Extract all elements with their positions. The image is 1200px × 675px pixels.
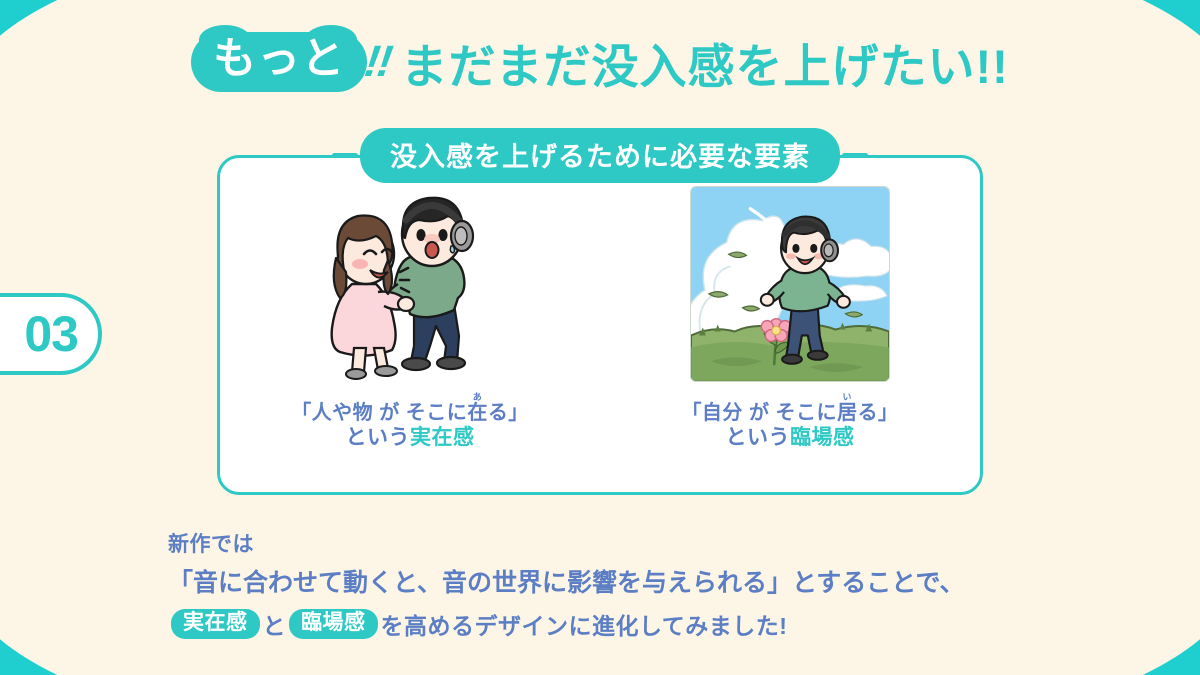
bottom-line-3: 実在感 と 臨場感 を高めるデザインに進化してみました! (168, 607, 1088, 641)
caption-immersion-ruby: 居い (837, 402, 858, 424)
title-blob-label: もっと (213, 35, 345, 83)
header-dash-left-icon (332, 153, 358, 158)
illustration-girl-touching-boy (296, 186, 524, 386)
caption-presence-ruby-text: あ (467, 392, 487, 402)
caption-immersion: 「自分 が そこに居いる」 という臨場感 (681, 392, 898, 451)
bottom-line3-conjunction: と (263, 607, 287, 641)
step-number-label: 03 (24, 309, 78, 359)
bottom-line3-tail: を高めるデザインに進化してみました! (381, 607, 788, 641)
section-header-label: 没入感を上げるために必要な要素 (390, 142, 810, 172)
caption-immersion-line2-highlight: 臨場感 (790, 426, 855, 449)
caption-immersion-line1: 「自分 が そこに居いる」 (681, 392, 898, 425)
caption-immersion-line1-pre: 「自分 が そこに (681, 402, 837, 424)
caption-immersion-ruby-text: い (837, 392, 857, 402)
section-header-pill: 没入感を上げるために必要な要素 (360, 128, 840, 183)
illustration-field-frame (690, 186, 890, 382)
title-exclamation: !! (362, 37, 394, 87)
title-emphasis-blob: もっと (191, 32, 367, 91)
caption-immersion-line2-plain: という (726, 426, 791, 449)
step-number-badge: 03 (0, 293, 102, 375)
caption-presence-line2: という実在感 (291, 425, 529, 451)
illustration-field-svg (691, 187, 889, 381)
caption-presence-line2-highlight: 実在感 (410, 426, 475, 449)
caption-immersion-line2: という臨場感 (681, 425, 898, 451)
content-panel: 「人や物 が そこに在ある」 という実在感 (217, 155, 983, 495)
section-header: 没入感を上げるために必要な要素 (0, 131, 1200, 179)
caption-presence-line2-plain: という (346, 426, 411, 449)
caption-presence-ruby: 在あ (467, 402, 488, 424)
bottom-pill-immersion: 臨場感 (289, 609, 378, 639)
panel-column-immersion: 「自分 が そこに居いる」 という臨場感 (600, 158, 980, 492)
bottom-line-2: 「音に合わせて動くと、音の世界に影響を与えられる」とすることで、 (168, 563, 1088, 599)
caption-immersion-line1-post: る」 (858, 402, 899, 424)
caption-presence-line1-pre: 「人や物 が そこに (291, 402, 467, 424)
caption-presence-ruby-base: 在 (467, 402, 488, 424)
bottom-description: 新作では 「音に合わせて動くと、音の世界に影響を与えられる」とすることで、 実在… (168, 528, 1088, 641)
panel-columns: 「人や物 が そこに在ある」 という実在感 (220, 158, 980, 492)
panel-column-presence: 「人や物 が そこに在ある」 という実在感 (220, 158, 600, 492)
header-dash-right-icon (842, 153, 868, 158)
title-main-label: まだまだ没入感を上げたい!! (400, 28, 1008, 97)
illustration-boy-in-field (676, 186, 904, 386)
caption-presence-line1: 「人や物 が そこに在ある」 (291, 392, 529, 425)
caption-immersion-ruby-base: 居 (837, 402, 858, 424)
bottom-pill-presence: 実在感 (171, 609, 260, 639)
slide-root: 03 もっと !! まだまだ没入感を上げたい!! 没入感を上げるために必要な要素 (0, 0, 1200, 675)
page-title: もっと !! まだまだ没入感を上げたい!! (0, 24, 1200, 100)
illustration-people-svg (296, 186, 524, 386)
bottom-line-1: 新作では (168, 528, 1088, 558)
caption-presence: 「人や物 が そこに在ある」 という実在感 (291, 392, 529, 451)
caption-presence-line1-post: る」 (488, 402, 529, 424)
